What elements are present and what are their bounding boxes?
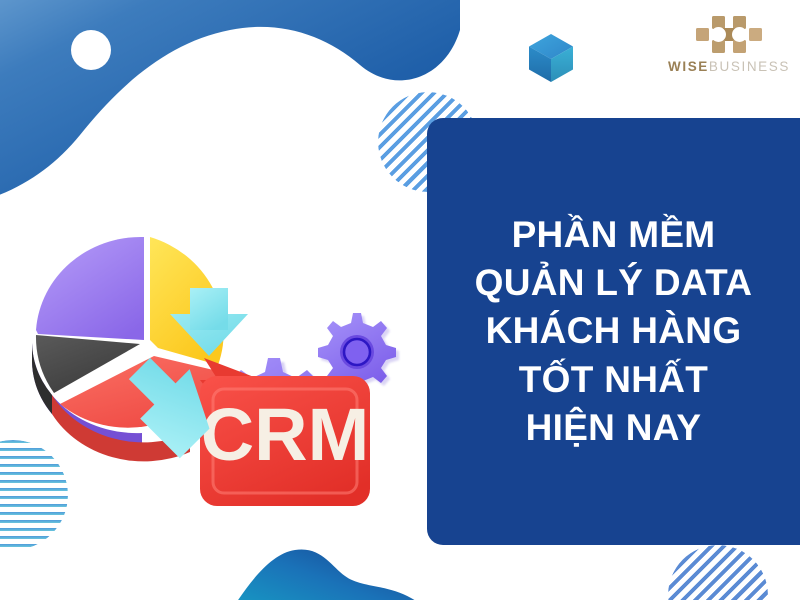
- crm-tag-label: CRM: [201, 393, 370, 476]
- headline-line-2: QUẢN LÝ DATA: [431, 259, 796, 307]
- diagonal-striped-circle-bottom: [668, 545, 768, 600]
- brand-wordmark: WISEBUSINESS: [663, 59, 795, 74]
- crm-tag-icon: CRM: [200, 358, 370, 506]
- headline-line-4: TỐT NHẤT: [431, 356, 796, 404]
- page-title: PHẦN MỀM QUẢN LÝ DATA KHÁCH HÀNG TỐT NHẤ…: [431, 211, 796, 451]
- headline-line-3: KHÁCH HÀNG: [431, 307, 796, 355]
- brand-word-wise: WISE: [668, 59, 709, 74]
- blue-wave-blob: [0, 0, 460, 210]
- brand-word-business: BUSINESS: [709, 59, 790, 74]
- headline-line-1: PHẦN MỀM: [431, 211, 796, 259]
- brand-logo: WISEBUSINESS: [663, 14, 795, 74]
- white-circle-dot: [71, 30, 111, 70]
- crm-data-management-3d-illustration: CRM: [22, 180, 422, 510]
- wise-business-logo-mark-icon: [692, 14, 766, 56]
- poster-canvas: WISEBUSINESS: [0, 0, 800, 600]
- headline-card: PHẦN MỀM QUẢN LÝ DATA KHÁCH HÀNG TỐT NHẤ…: [427, 118, 800, 545]
- headline-line-5: HIỆN NAY: [431, 404, 796, 452]
- blue-teal-blob: [215, 540, 435, 600]
- 3d-cube-icon: [522, 28, 580, 86]
